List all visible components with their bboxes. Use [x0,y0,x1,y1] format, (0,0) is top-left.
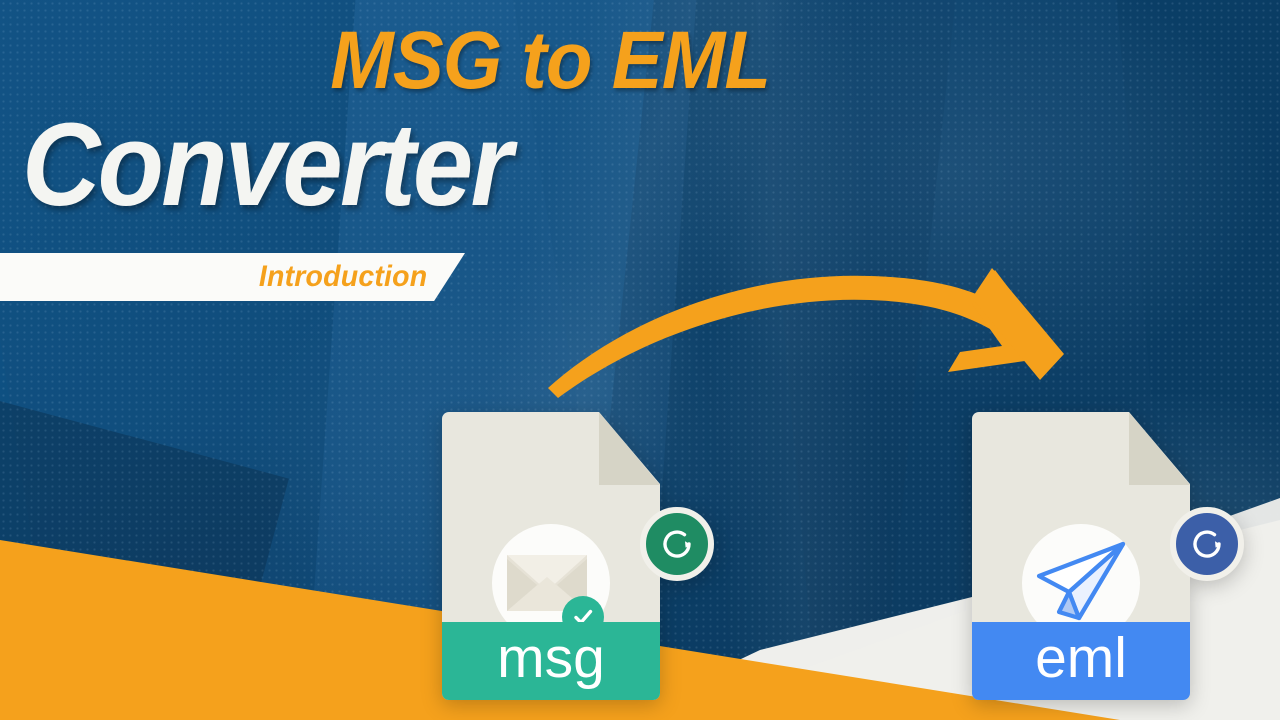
file-type-label-eml: eml [972,622,1190,700]
refresh-icon-msg[interactable] [640,507,714,581]
file-card-eml[interactable]: eml [972,412,1190,700]
refresh-icon-eml[interactable] [1170,507,1244,581]
introduction-ribbon: Introduction [0,253,465,301]
curved-arrow-right-icon [540,248,1100,408]
file-card-msg[interactable]: msg [442,412,660,700]
paper-plane-icon [1035,540,1127,626]
page-title-line2: Converter [22,106,721,224]
page-title-line1: MSG to EML [54,20,770,102]
introduction-label: Introduction [258,260,427,294]
file-type-label-msg: msg [442,622,660,700]
slide-canvas: MSG to EML Converter Introduction [0,0,1280,720]
